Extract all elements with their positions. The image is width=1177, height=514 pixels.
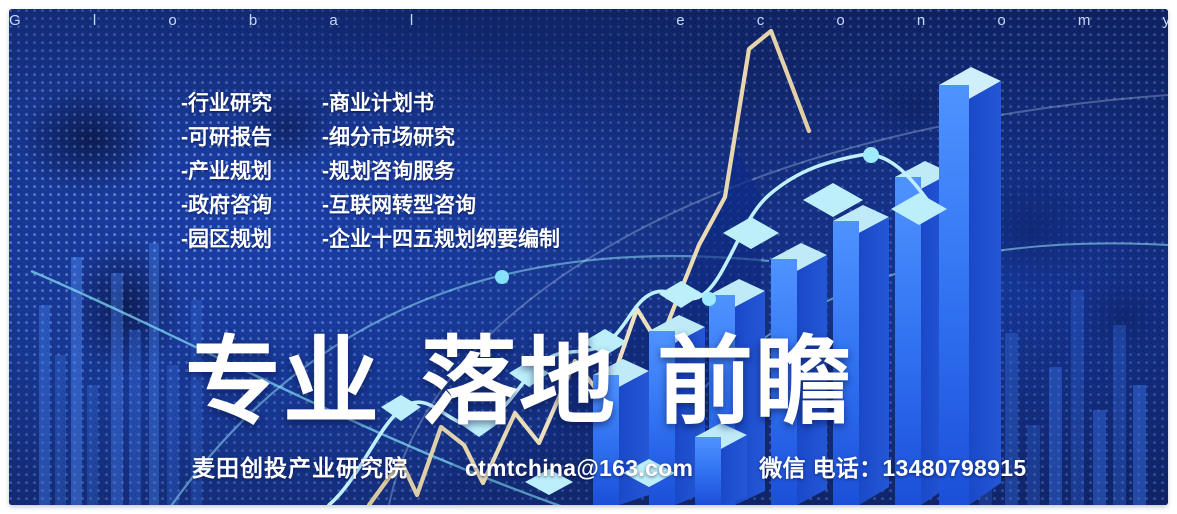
headline-word-1: 专业 bbox=[185, 329, 381, 436]
service-item: -互联网转型咨询 bbox=[322, 190, 560, 221]
promo-banner: G l o b a l e c o n o m y -行业研究 -可研报告 -产… bbox=[9, 9, 1168, 505]
headline-word-2: 落地 bbox=[421, 329, 617, 436]
headline-slogan: 专业落地前瞻 bbox=[185, 304, 853, 443]
bar-7 bbox=[939, 67, 1001, 505]
organization-name: 麦田创投产业研究院 bbox=[192, 449, 408, 483]
service-item: -园区规划 bbox=[181, 224, 272, 255]
phone-contact: 微信 电话：13480798915 bbox=[759, 449, 1026, 483]
service-column-right: -商业计划书 -细分市场研究 -规划咨询服务 -互联网转型咨询 -企业十四五规划… bbox=[322, 88, 560, 255]
service-item: -产业规划 bbox=[181, 156, 272, 187]
service-item: -企业十四五规划纲要编制 bbox=[322, 224, 560, 255]
footer-contact-line: 麦田创投产业研究院 ctmtchina@163.com 微信 电话：134807… bbox=[192, 449, 1026, 483]
headline-word-3: 前瞻 bbox=[657, 329, 853, 436]
service-item: -政府咨询 bbox=[181, 190, 272, 221]
service-column-left: -行业研究 -可研报告 -产业规划 -政府咨询 -园区规划 bbox=[181, 88, 272, 255]
service-item: -可研报告 bbox=[181, 122, 272, 153]
service-item: -行业研究 bbox=[181, 88, 272, 119]
service-lists: -行业研究 -可研报告 -产业规划 -政府咨询 -园区规划 -商业计划书 -细分… bbox=[181, 88, 560, 255]
service-item: -商业计划书 bbox=[322, 88, 560, 119]
service-item: -规划咨询服务 bbox=[322, 156, 560, 187]
email-address[interactable]: ctmtchina@163.com bbox=[465, 455, 693, 482]
watermark-global-economy: G l o b a l e c o n o m y bbox=[9, 12, 1168, 29]
service-item: -细分市场研究 bbox=[322, 122, 560, 153]
